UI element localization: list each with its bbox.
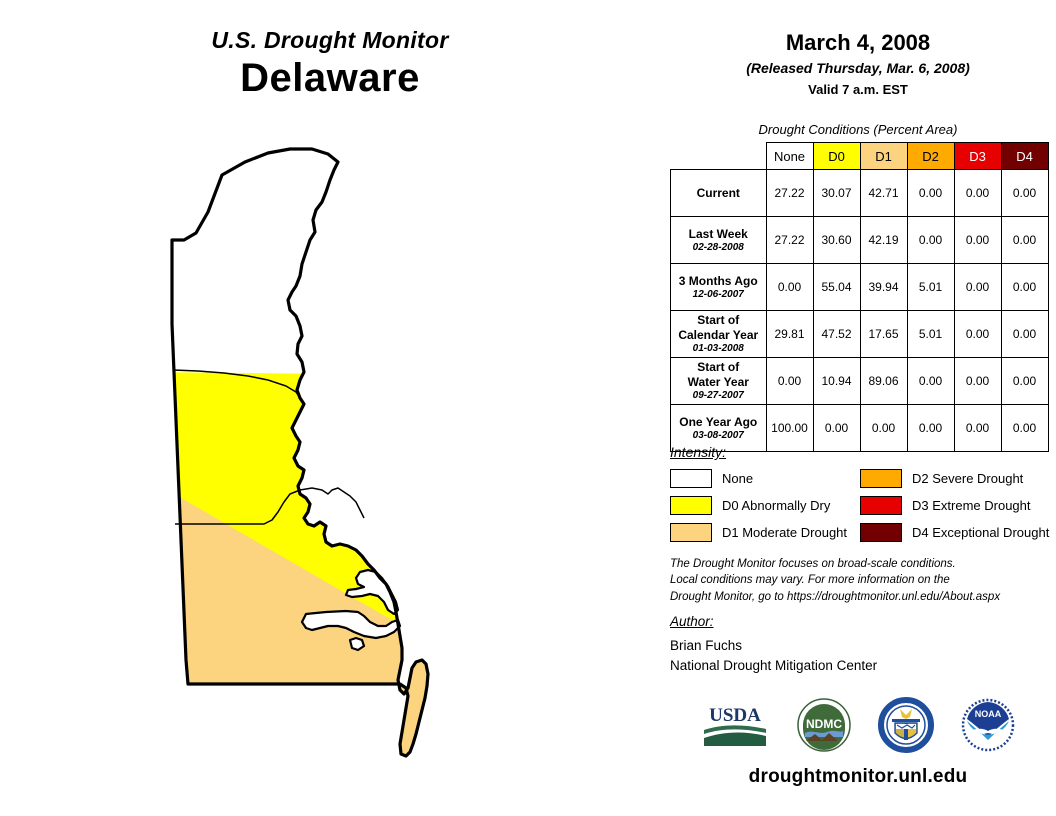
table-header-d0: D0 [813,143,860,170]
date-block: March 4, 2008 (Released Thursday, Mar. 6… [660,30,1056,99]
table-cell-d4: 0.00 [1001,358,1048,405]
table-row-date: 02-28-2008 [675,242,762,254]
table-row: Start ofWater Year09-27-20070.0010.9489.… [671,358,1049,405]
table-cell-d3: 0.00 [954,217,1001,264]
delaware-drought-map[interactable] [150,140,530,800]
legend-swatch [860,469,902,488]
table-row-date: 09-27-2007 [675,390,762,402]
table-cell-d2: 5.01 [907,264,954,311]
website-url[interactable]: droughtmonitor.unl.edu [660,766,1056,788]
table-body: Current27.2230.0742.710.000.000.00Last W… [671,170,1049,452]
table-cell-d3: 0.00 [954,358,1001,405]
legend-item[interactable]: D1 Moderate Drought [670,520,847,544]
legend-swatch [670,469,712,488]
table-cell-d1: 89.06 [860,358,907,405]
disclaimer-line: The Drought Monitor focuses on broad-sca… [670,556,1050,572]
release-date: (Released Thursday, Mar. 6, 2008) [660,59,1056,78]
table-cell-d1: 42.19 [860,217,907,264]
table-header-d2: D2 [907,143,954,170]
table-row: Start ofCalendar Year01-03-200829.8147.5… [671,311,1049,358]
author-info: Brian Fuchs National Drought Mitigation … [670,636,877,675]
table-row: Last Week02-28-200827.2230.6042.190.000.… [671,217,1049,264]
info-panel: March 4, 2008 (Released Thursday, Mar. 6… [660,0,1056,816]
table-cell-none: 0.00 [766,358,813,405]
table-cell-d0: 0.00 [813,405,860,452]
usda-logo-text: USDA [709,705,761,726]
table-cell-d2: 0.00 [907,405,954,452]
ndmc-logo[interactable]: NDMC [796,697,852,753]
table-cell-none: 27.22 [766,217,813,264]
legend-label: D4 Exceptional Drought [912,525,1049,540]
table-cell-d4: 0.00 [1001,217,1048,264]
ndmc-logo-text: NDMC [806,717,842,731]
table-row-label: Current [671,170,767,217]
disclaimer-line: Drought Monitor, go to https://droughtmo… [670,589,1050,605]
table-header-row: NoneD0D1D2D3D4 [671,143,1049,170]
map-region-none [150,140,530,376]
table-cell-d0: 47.52 [813,311,860,358]
table-cell-d1: 39.94 [860,264,907,311]
legend-swatch [860,523,902,542]
table-cell-d0: 10.94 [813,358,860,405]
table-cell-d2: 0.00 [907,170,954,217]
disclaimer-line: Local conditions may vary. For more info… [670,572,1050,588]
legend-label: D1 Moderate Drought [722,525,847,540]
table-cell-d4: 0.00 [1001,405,1048,452]
table-row-label: Start ofCalendar Year01-03-2008 [671,311,767,358]
noaa-logo-text: NOAA [975,709,1002,719]
table-cell-d1: 0.00 [860,405,907,452]
usda-logo[interactable]: USDA [700,700,770,750]
legend-column-right: D2 Severe DroughtD3 Extreme DroughtD4 Ex… [860,466,1049,547]
legend-item[interactable]: D2 Severe Drought [860,466,1049,490]
table-row-label: Start ofWater Year09-27-2007 [671,358,767,405]
author-organization: National Drought Mitigation Center [670,656,877,676]
valid-time: Valid 7 a.m. EST [660,81,1056,99]
noaa-logo[interactable]: NOAA [960,697,1016,753]
table-cell-d3: 0.00 [954,311,1001,358]
table-row: Current27.2230.0742.710.000.000.00 [671,170,1049,217]
table-header-d1: D1 [860,143,907,170]
legend-label: D2 Severe Drought [912,471,1023,486]
state-title: Delaware [0,55,660,101]
legend-swatch [670,523,712,542]
table-cell-d1: 17.65 [860,311,907,358]
legend-swatch [670,496,712,515]
table-cell-none: 27.22 [766,170,813,217]
table-row-label: 3 Months Ago12-06-2007 [671,264,767,311]
table-cell-d2: 0.00 [907,358,954,405]
legend-item[interactable]: D4 Exceptional Drought [860,520,1049,544]
table-row-date: 03-08-2007 [675,430,762,442]
table-header-d3: D3 [954,143,1001,170]
map-date: March 4, 2008 [660,30,1056,56]
map-svg [150,140,530,800]
logo-row: USDA NDMC [660,690,1056,760]
legend-item[interactable]: D0 Abnormally Dry [670,493,847,517]
table-cell-d4: 0.00 [1001,311,1048,358]
table-row: 3 Months Ago12-06-20070.0055.0439.945.01… [671,264,1049,311]
table-corner-cell [671,143,767,170]
table-cell-none: 29.81 [766,311,813,358]
table-row-label: Last Week02-28-2008 [671,217,767,264]
table-cell-d0: 30.07 [813,170,860,217]
legend-label: D3 Extreme Drought [912,498,1031,513]
program-title: U.S. Drought Monitor [0,28,660,53]
commerce-logo[interactable] [878,697,934,753]
legend-swatch [860,496,902,515]
table-cell-d3: 0.00 [954,170,1001,217]
table-row: One Year Ago03-08-2007100.000.000.000.00… [671,405,1049,452]
map-panel: U.S. Drought Monitor Delaware [0,0,660,816]
legend-item[interactable]: None [670,466,847,490]
legend-label: D0 Abnormally Dry [722,498,830,513]
legend-label: None [722,471,753,486]
table-cell-d2: 0.00 [907,217,954,264]
table-cell-d3: 0.00 [954,405,1001,452]
table-cell-d3: 0.00 [954,264,1001,311]
table-header-d4: D4 [1001,143,1048,170]
table-cell-d4: 0.00 [1001,264,1048,311]
table-row-date: 12-06-2007 [675,289,762,301]
table-row-date: 01-03-2008 [675,343,762,355]
table-cell-none: 100.00 [766,405,813,452]
drought-conditions-table: NoneD0D1D2D3D4 Current27.2230.0742.710.0… [670,142,1049,452]
disclaimer-text: The Drought Monitor focuses on broad-sca… [670,556,1050,605]
table-cell-d4: 0.00 [1001,170,1048,217]
author-name: Brian Fuchs [670,636,877,656]
table-cell-d1: 42.71 [860,170,907,217]
table-caption: Drought Conditions (Percent Area) [660,122,1056,137]
legend-column-left: NoneD0 Abnormally DryD1 Moderate Drought [670,466,847,547]
table-cell-d0: 30.60 [813,217,860,264]
title-block: U.S. Drought Monitor Delaware [0,28,660,101]
legend-item[interactable]: D3 Extreme Drought [860,493,1049,517]
table-cell-d0: 55.04 [813,264,860,311]
intensity-heading: Intensity: [670,444,726,460]
table-cell-none: 0.00 [766,264,813,311]
table-cell-d2: 5.01 [907,311,954,358]
table-header-none: None [766,143,813,170]
author-heading: Author: [670,614,714,629]
